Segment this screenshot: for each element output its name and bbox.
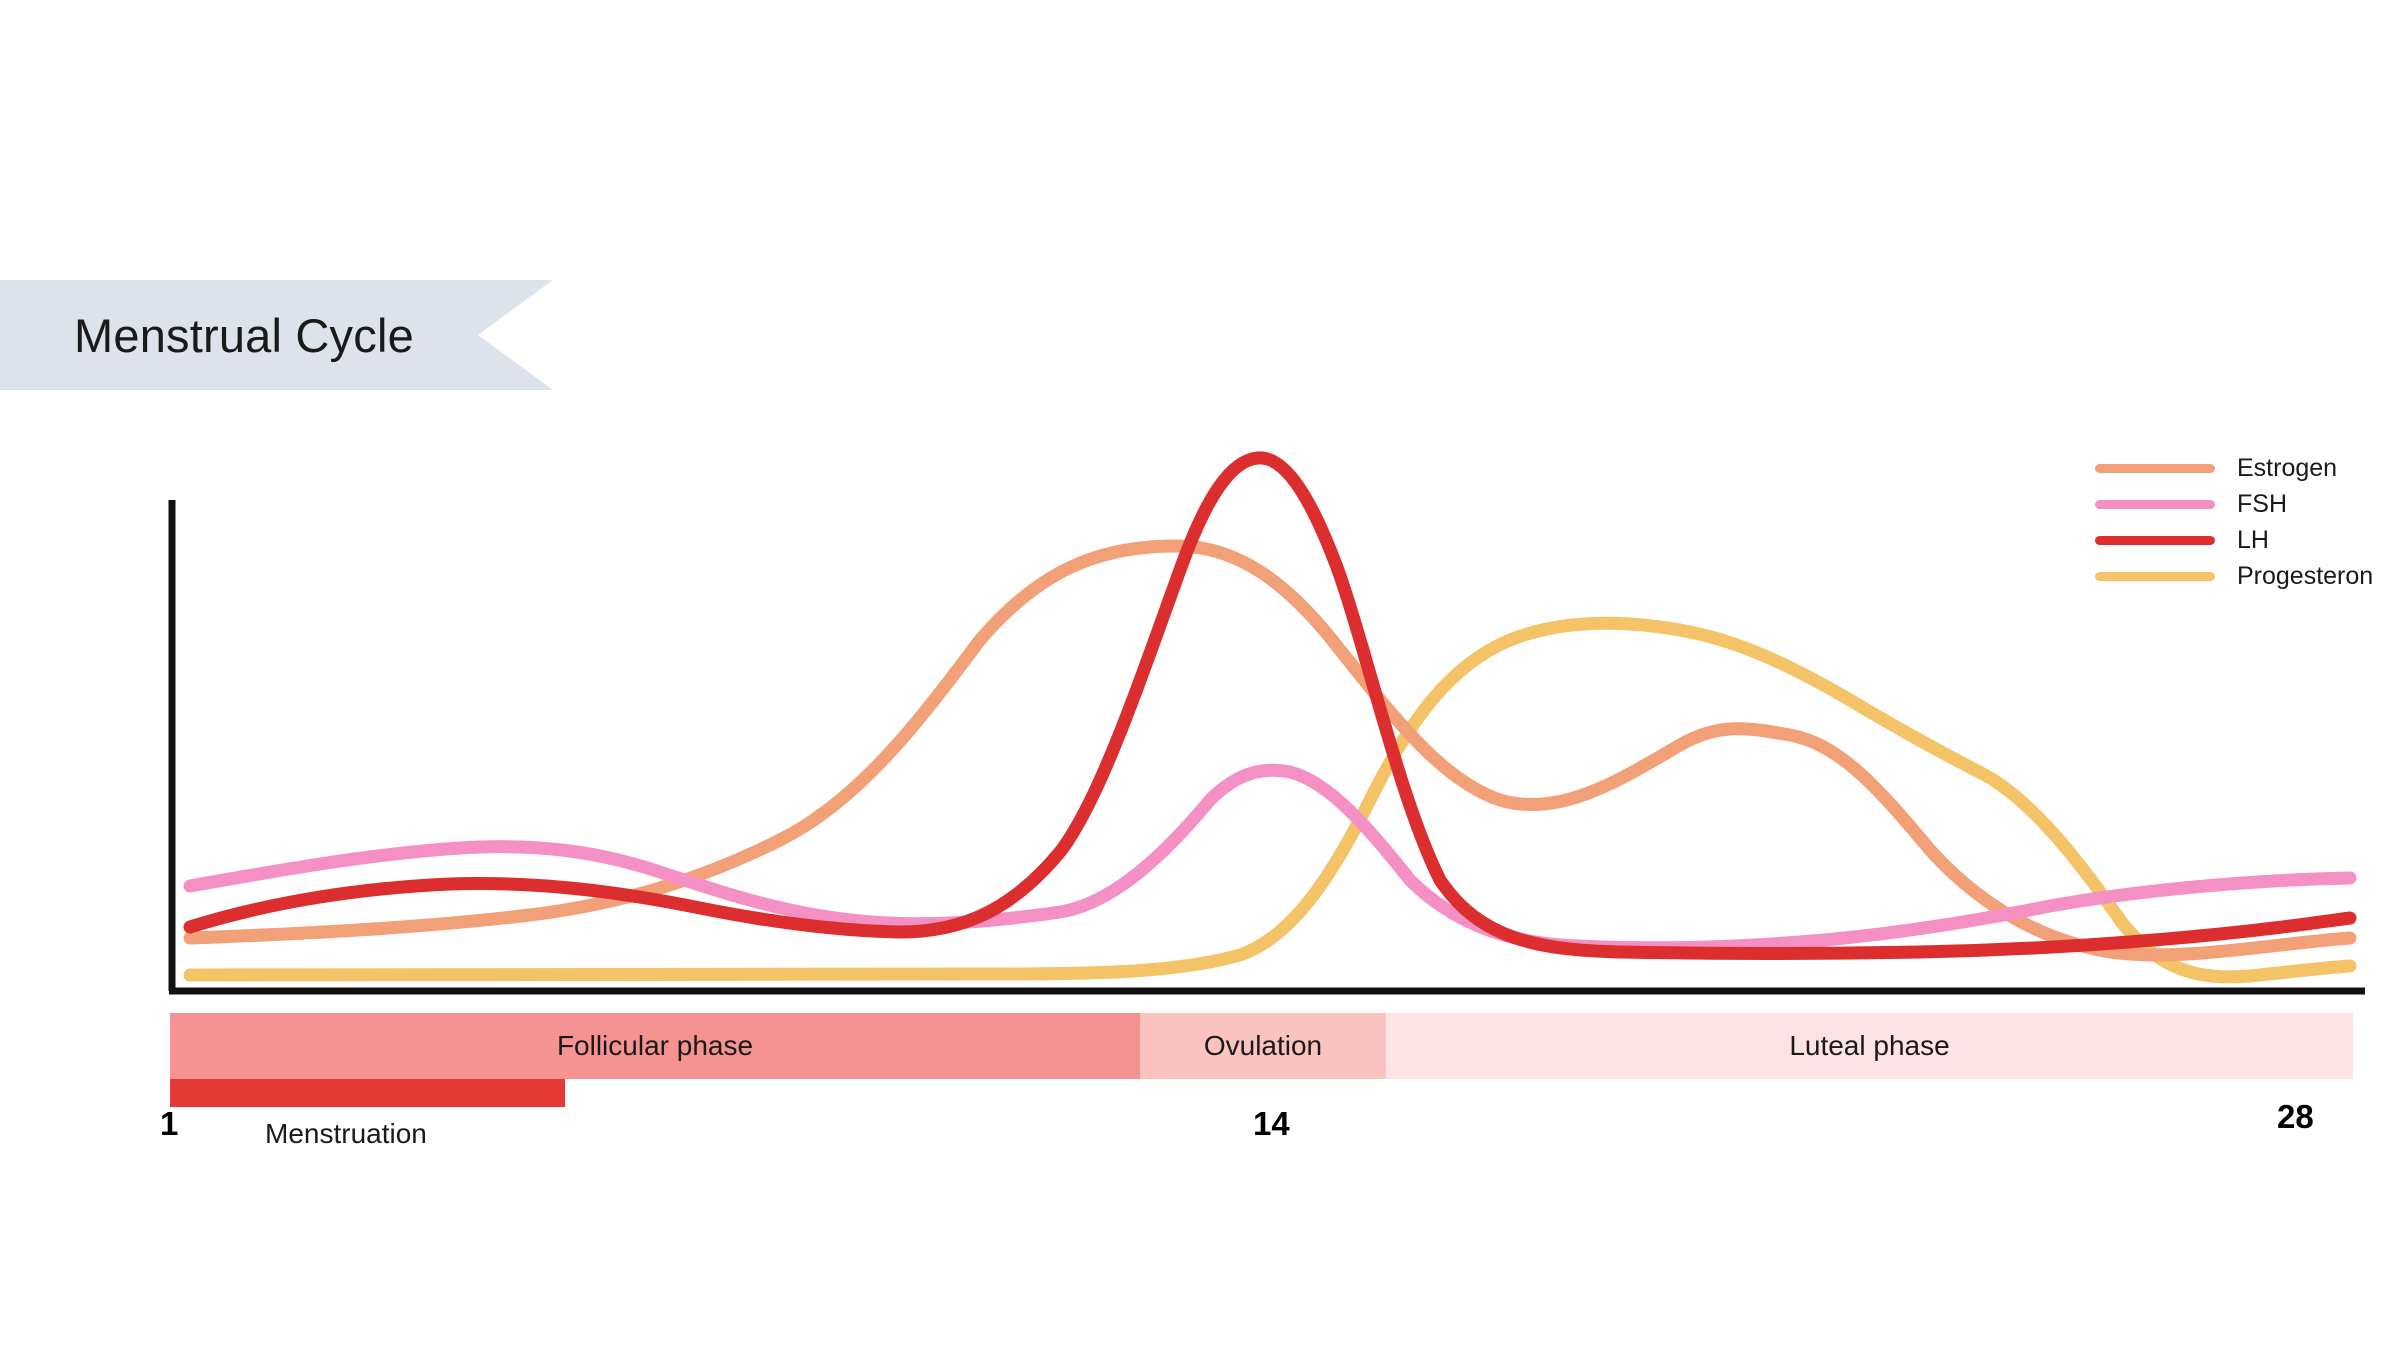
day-label-1: 1 xyxy=(160,1105,178,1143)
day-label-14: 14 xyxy=(1253,1105,1290,1143)
legend-swatch-lh xyxy=(2095,536,2215,545)
chart-canvas: Menstrual Cycle Estrogen FSH xyxy=(0,0,2400,1350)
legend-item-progesteron[interactable]: Progesteron xyxy=(2095,558,2373,594)
phase-bar-follicular[interactable]: Follicular phase xyxy=(170,1013,1140,1079)
legend-swatch-estrogen xyxy=(2095,464,2215,473)
phase-bar-ovulation[interactable]: Ovulation xyxy=(1140,1013,1386,1079)
legend-label-estrogen: Estrogen xyxy=(2237,456,2337,481)
legend-label-progesteron: Progesteron xyxy=(2237,564,2373,589)
menstruation-bar[interactable] xyxy=(170,1079,565,1107)
day-label-28: 28 xyxy=(2277,1098,2314,1136)
legend-item-fsh[interactable]: FSH xyxy=(2095,486,2373,522)
phase-bar-luteal[interactable]: Luteal phase xyxy=(1386,1013,2353,1079)
phase-label-ovulation: Ovulation xyxy=(1204,1030,1322,1062)
phase-label-follicular: Follicular phase xyxy=(557,1030,753,1062)
legend-label-lh: LH xyxy=(2237,528,2269,553)
phase-label-luteal: Luteal phase xyxy=(1789,1030,1949,1062)
legend-swatch-fsh xyxy=(2095,500,2215,509)
chart-legend: Estrogen FSH LH Progesteron xyxy=(2095,450,2373,594)
legend-label-fsh: FSH xyxy=(2237,492,2287,517)
series-line-lh xyxy=(190,458,2350,954)
legend-item-lh[interactable]: LH xyxy=(2095,522,2373,558)
legend-item-estrogen[interactable]: Estrogen xyxy=(2095,450,2373,486)
legend-swatch-progesteron xyxy=(2095,572,2215,581)
series-line-estrogen xyxy=(190,546,2350,955)
menstruation-label: Menstruation xyxy=(265,1118,427,1150)
